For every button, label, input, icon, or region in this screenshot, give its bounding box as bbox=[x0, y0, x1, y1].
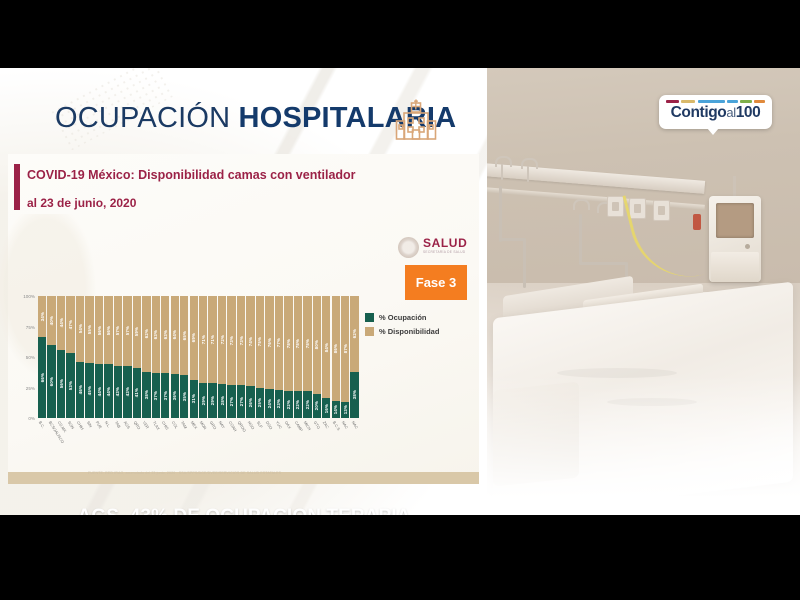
chart-bars: 34%66%40%60%44%56%47%53%54%46%55%45%56%4… bbox=[38, 296, 359, 418]
bar-label-disponibilidad: 56% bbox=[106, 326, 111, 335]
bar-segment-disponibilidad: 63% bbox=[152, 296, 160, 373]
bar-label-ocupacion: 43% bbox=[125, 387, 130, 396]
x-axis-tick: PUE bbox=[95, 420, 103, 448]
x-axis-label: PUE bbox=[95, 420, 103, 429]
chart-bar: 78%22% bbox=[294, 296, 302, 418]
presentation-slide: OCUPACIÓN HOSPITALARIA bbox=[0, 68, 487, 515]
logo-speech-tail bbox=[707, 128, 719, 135]
chart-bar: 75%25% bbox=[256, 296, 264, 418]
bar-label-disponibilidad: 78% bbox=[295, 339, 300, 348]
bar-segment-ocupacion: 31% bbox=[190, 380, 198, 418]
bar-label-disponibilidad: 44% bbox=[59, 318, 64, 327]
x-axis-tick: MEX bbox=[190, 420, 198, 448]
x-axis-tick: MOR bbox=[199, 420, 207, 448]
bar-label-disponibilidad: 76% bbox=[267, 338, 272, 347]
x-axis-tick: NAC bbox=[341, 420, 349, 448]
hospital-building-icon bbox=[395, 97, 437, 143]
x-axis-tick: B.C. bbox=[38, 420, 46, 448]
caption-line-1: AGS. 43% DE OCUPACION TERAPIA bbox=[29, 506, 459, 515]
x-axis-label: CHIS bbox=[161, 420, 170, 431]
x-axis-label: ZAC bbox=[322, 420, 330, 429]
bar-segment-disponibilidad: 47% bbox=[66, 296, 74, 353]
bar-label-disponibilidad: 80% bbox=[314, 340, 319, 349]
x-axis-tick: COAH bbox=[227, 420, 235, 448]
x-axis-label: TAM bbox=[180, 420, 188, 429]
bar-segment-disponibilidad: 71% bbox=[208, 296, 216, 383]
bar-segment-ocupacion: 44% bbox=[104, 364, 112, 418]
bar-segment-ocupacion: 41% bbox=[133, 368, 141, 418]
chart-bar: 57%43% bbox=[123, 296, 131, 418]
bar-label-disponibilidad: 74% bbox=[248, 337, 253, 346]
bar-label-disponibilidad: 69% bbox=[191, 333, 196, 342]
bar-label-ocupacion: 35% bbox=[182, 392, 187, 401]
bar-label-disponibilidad: 34% bbox=[40, 312, 45, 321]
y-axis-tick: 25% bbox=[13, 386, 35, 391]
video-content-band: OCUPACIÓN HOSPITALARIA bbox=[0, 68, 800, 515]
bar-segment-ocupacion: 26% bbox=[246, 386, 254, 418]
chart-bar: 62%38% bbox=[350, 296, 358, 418]
ventilator-base bbox=[711, 252, 759, 282]
logo-strip-dash bbox=[740, 100, 752, 103]
bar-label-disponibilidad: 59% bbox=[134, 327, 139, 336]
bar-label-ocupacion: 29% bbox=[210, 396, 215, 405]
chart-bar: 77%23% bbox=[275, 296, 283, 418]
x-axis-label: GRO bbox=[208, 420, 217, 430]
bar-segment-disponibilidad: 57% bbox=[123, 296, 131, 366]
bar-segment-ocupacion: 44% bbox=[95, 364, 103, 418]
x-axis-tick: YUC bbox=[275, 420, 283, 448]
bar-segment-ocupacion: 37% bbox=[152, 373, 160, 418]
x-axis-tick: AGS bbox=[123, 420, 131, 448]
bar-segment-ocupacion: 66% bbox=[38, 337, 46, 418]
bar-segment-ocupacion: 22% bbox=[303, 391, 311, 418]
bar-label-ocupacion: 37% bbox=[163, 391, 168, 400]
salud-logo-subtitle: SECRETARÍA DE SALUD bbox=[423, 250, 465, 254]
bar-label-ocupacion: 23% bbox=[276, 399, 281, 408]
x-axis-label: B.C. bbox=[38, 420, 46, 429]
bar-segment-ocupacion: 38% bbox=[142, 372, 150, 418]
bar-segment-disponibilidad: 56% bbox=[104, 296, 112, 364]
x-axis-tick: CD.MX bbox=[57, 420, 65, 448]
bar-segment-disponibilidad: 78% bbox=[294, 296, 302, 391]
photo-bottom-fade bbox=[487, 375, 800, 515]
chart-bar: 74%26% bbox=[246, 296, 254, 418]
bar-segment-ocupacion: 27% bbox=[237, 385, 245, 418]
x-axis-label: TAB bbox=[114, 420, 122, 429]
bar-label-ocupacion: 13% bbox=[343, 405, 348, 414]
x-axis-tick: OAX bbox=[284, 420, 292, 448]
chart-bar: 76%24% bbox=[265, 296, 273, 418]
x-axis-tick: NAY bbox=[218, 420, 226, 448]
bar-label-disponibilidad: 57% bbox=[115, 326, 120, 335]
chart-bar: 84%16% bbox=[322, 296, 330, 418]
bar-label-ocupacion: 27% bbox=[229, 397, 234, 406]
slide-header: OCUPACIÓN HOSPITALARIA bbox=[0, 94, 487, 152]
bar-label-disponibilidad: 57% bbox=[125, 326, 130, 335]
legend-swatch-icon bbox=[365, 313, 374, 322]
bar-label-ocupacion: 20% bbox=[314, 401, 319, 410]
x-axis-tick: TLAX bbox=[152, 420, 160, 448]
chart-bar: 63%37% bbox=[161, 296, 169, 418]
chart-bar: 59%41% bbox=[133, 296, 141, 418]
bar-label-disponibilidad: 73% bbox=[229, 336, 234, 345]
bar-segment-ocupacion: 22% bbox=[284, 391, 292, 418]
chart-bar: 54%46% bbox=[76, 296, 84, 418]
chart-plot-area: 34%66%40%60%44%56%47%53%54%46%55%45%56%4… bbox=[38, 296, 359, 418]
bar-segment-ocupacion: 35% bbox=[180, 375, 188, 418]
x-axis-label: SIN bbox=[85, 420, 93, 428]
logo-text-num: 100 bbox=[736, 104, 761, 121]
bar-segment-ocupacion: 36% bbox=[171, 374, 179, 418]
bar-segment-disponibilidad: 69% bbox=[190, 296, 198, 380]
x-axis-label: N.L. bbox=[104, 420, 112, 429]
bar-segment-ocupacion: 29% bbox=[199, 383, 207, 418]
x-axis-tick: VER bbox=[142, 420, 150, 448]
x-axis-tick: CHIS bbox=[161, 420, 169, 448]
bar-segment-disponibilidad: 62% bbox=[350, 296, 358, 372]
bar-label-ocupacion: 53% bbox=[68, 381, 73, 390]
bar-label-disponibilidad: 78% bbox=[305, 339, 310, 348]
x-axis-tick: HGO bbox=[246, 420, 254, 448]
x-axis-label: MOR bbox=[199, 420, 208, 430]
bar-label-disponibilidad: 78% bbox=[286, 339, 291, 348]
bar-segment-disponibilidad: 72% bbox=[218, 296, 226, 384]
iv-hook-icon bbox=[573, 199, 590, 210]
x-axis-label: SLP bbox=[256, 420, 264, 429]
x-axis-tick: BCS/JALISCO bbox=[47, 420, 55, 448]
x-axis-tick: QROO bbox=[237, 420, 245, 448]
y-axis-tick: 100% bbox=[13, 294, 35, 299]
logo-strip-dash bbox=[754, 100, 765, 103]
x-axis-tick: DGO bbox=[265, 420, 273, 448]
bar-segment-ocupacion: 23% bbox=[275, 390, 283, 418]
chart-bar: 73%27% bbox=[237, 296, 245, 418]
x-axis-tick: SLP bbox=[256, 420, 264, 448]
bar-label-disponibilidad: 86% bbox=[333, 344, 338, 353]
ventilator-knob bbox=[745, 244, 750, 249]
bar-label-disponibilidad: 87% bbox=[343, 344, 348, 353]
red-valve bbox=[693, 214, 701, 230]
x-axis-label: SON bbox=[66, 420, 75, 430]
bar-segment-ocupacion: 29% bbox=[208, 383, 216, 418]
bar-label-ocupacion: 45% bbox=[87, 386, 92, 395]
x-axis-tick: GRO bbox=[208, 420, 216, 448]
chart-bar: 64%36% bbox=[171, 296, 179, 418]
bar-label-disponibilidad: 75% bbox=[257, 337, 262, 346]
x-axis-tick: CAMP bbox=[294, 420, 302, 448]
bar-segment-disponibilidad: 86% bbox=[332, 296, 340, 401]
bar-label-disponibilidad: 62% bbox=[352, 329, 357, 338]
x-axis-tick: NAC bbox=[350, 420, 358, 448]
x-axis-tick: B.C.S bbox=[332, 420, 340, 448]
bar-label-disponibilidad: 72% bbox=[220, 335, 225, 344]
bar-segment-ocupacion: 43% bbox=[123, 366, 131, 418]
bar-segment-ocupacion: 20% bbox=[313, 394, 321, 418]
bar-segment-disponibilidad: 62% bbox=[142, 296, 150, 372]
contigo-al-100-logo: Contigoal100 bbox=[659, 95, 772, 129]
bar-label-ocupacion: 41% bbox=[134, 388, 139, 397]
bar-label-ocupacion: 56% bbox=[59, 379, 64, 388]
bar-segment-disponibilidad: 71% bbox=[199, 296, 207, 383]
wall-outlet bbox=[607, 196, 624, 217]
salud-logo-name: SALUD bbox=[423, 236, 467, 250]
bar-segment-ocupacion: 60% bbox=[47, 345, 55, 418]
bar-segment-disponibilidad: 64% bbox=[171, 296, 179, 374]
bar-segment-ocupacion: 27% bbox=[227, 385, 235, 418]
x-axis-tick: N.L. bbox=[104, 420, 112, 448]
bar-segment-ocupacion: 22% bbox=[294, 391, 302, 418]
chart-legend: % Ocupación% Disponibilidad bbox=[365, 313, 439, 341]
bar-segment-disponibilidad: 80% bbox=[313, 296, 321, 394]
bar-label-ocupacion: 31% bbox=[191, 394, 196, 403]
bar-segment-ocupacion: 14% bbox=[332, 401, 340, 418]
bar-label-ocupacion: 22% bbox=[286, 400, 291, 409]
legend-label: % Ocupación bbox=[379, 313, 427, 322]
bar-label-disponibilidad: 64% bbox=[172, 330, 177, 339]
chart-subtitle: al 23 de junio, 2020 bbox=[27, 196, 136, 210]
logo-strip-dash bbox=[681, 100, 695, 103]
bar-segment-disponibilidad: 73% bbox=[237, 296, 245, 385]
x-axis-label: COL bbox=[171, 420, 179, 429]
bar-label-ocupacion: 22% bbox=[295, 400, 300, 409]
chart-bar: 80%20% bbox=[313, 296, 321, 418]
bar-label-disponibilidad: 54% bbox=[78, 324, 83, 333]
bar-label-disponibilidad: 73% bbox=[239, 336, 244, 345]
bar-segment-ocupacion: 53% bbox=[66, 353, 74, 418]
x-axis-label: VER bbox=[142, 420, 150, 429]
bar-label-ocupacion: 38% bbox=[352, 390, 357, 399]
bar-label-ocupacion: 29% bbox=[201, 396, 206, 405]
bar-label-disponibilidad: 62% bbox=[144, 329, 149, 338]
bar-segment-ocupacion: 37% bbox=[161, 373, 169, 418]
bar-segment-disponibilidad: 34% bbox=[38, 296, 46, 337]
y-axis-tick: 75% bbox=[13, 325, 35, 330]
x-axis-tick: SON bbox=[66, 420, 74, 448]
legend-swatch-icon bbox=[365, 327, 374, 336]
chart-source-note: FUENTE: RED IRAG, acumulado del 23 junio… bbox=[88, 471, 281, 475]
bar-label-ocupacion: 14% bbox=[333, 405, 338, 414]
chart-bar: 56%44% bbox=[95, 296, 103, 418]
bar-label-ocupacion: 27% bbox=[239, 397, 244, 406]
bar-label-ocupacion: 16% bbox=[324, 404, 329, 413]
bar-segment-ocupacion: 56% bbox=[57, 350, 65, 418]
bar-label-ocupacion: 43% bbox=[115, 387, 120, 396]
bar-segment-disponibilidad: 54% bbox=[76, 296, 84, 362]
bar-label-ocupacion: 60% bbox=[49, 377, 54, 386]
fase-badge-label: Fase 3 bbox=[416, 275, 456, 290]
x-axis-label: GTO bbox=[313, 420, 322, 430]
status-badge: Fase 3 bbox=[405, 265, 467, 300]
bar-segment-ocupacion: 38% bbox=[350, 372, 358, 418]
legend-item-0: % Ocupación bbox=[365, 313, 439, 322]
x-axis-label: NAC bbox=[341, 420, 350, 430]
chart-title: COVID-19 México: Disponibilidad camas co… bbox=[27, 168, 356, 182]
bar-label-disponibilidad: 77% bbox=[276, 338, 281, 347]
logo-text: Contigoal100 bbox=[659, 104, 772, 122]
x-axis-tick: SIN bbox=[85, 420, 93, 448]
x-axis-tick: GTO bbox=[313, 420, 321, 448]
x-axis-label: TLAX bbox=[152, 420, 161, 431]
x-axis-tick: TAB bbox=[114, 420, 122, 448]
chart-bar: 63%37% bbox=[152, 296, 160, 418]
chart-bar: 55%45% bbox=[85, 296, 93, 418]
chart-bar: 65%35% bbox=[180, 296, 188, 418]
chart-bar: 72%28% bbox=[218, 296, 226, 418]
bar-segment-disponibilidad: 73% bbox=[227, 296, 235, 385]
ventilator-screen bbox=[716, 203, 754, 238]
x-axis-tick: TAM bbox=[180, 420, 188, 448]
x-axis-tick: COL bbox=[171, 420, 179, 448]
bar-segment-disponibilidad: 57% bbox=[114, 296, 122, 366]
bar-label-ocupacion: 36% bbox=[172, 391, 177, 400]
x-axis-label: AGS bbox=[123, 420, 132, 430]
bar-segment-disponibilidad: 44% bbox=[57, 296, 65, 350]
chart-bar: 57%43% bbox=[114, 296, 122, 418]
bar-label-ocupacion: 24% bbox=[267, 399, 272, 408]
logo-text-main: Contigo bbox=[671, 104, 727, 121]
eagle-seal-icon bbox=[398, 237, 419, 258]
bar-segment-disponibilidad: 76% bbox=[265, 296, 273, 389]
x-axis-label: MICH bbox=[303, 420, 313, 431]
x-axis-label: CHIH bbox=[76, 420, 85, 431]
ventilator-machine bbox=[709, 196, 761, 282]
y-axis-tick: 50% bbox=[13, 355, 35, 360]
bar-label-disponibilidad: 84% bbox=[324, 343, 329, 352]
wall-pipe bbox=[579, 214, 582, 264]
chart-bar: 40%60% bbox=[47, 296, 55, 418]
logo-strip-dash bbox=[666, 100, 679, 103]
logo-color-strip bbox=[666, 100, 765, 103]
bar-segment-disponibilidad: 63% bbox=[161, 296, 169, 373]
bar-label-ocupacion: 25% bbox=[257, 398, 262, 407]
x-axis-label: QRO bbox=[133, 420, 142, 430]
bar-segment-disponibilidad: 55% bbox=[85, 296, 93, 363]
chart-bar: 78%22% bbox=[284, 296, 292, 418]
chart-bar: 71%29% bbox=[199, 296, 207, 418]
bar-segment-disponibilidad: 74% bbox=[246, 296, 254, 386]
bar-label-ocupacion: 26% bbox=[248, 398, 253, 407]
bar-segment-ocupacion: 46% bbox=[76, 362, 84, 418]
wall-pipe bbox=[579, 262, 627, 265]
x-axis-label: MEX bbox=[189, 420, 198, 430]
chart-x-axis-labels: B.C.BCS/JALISCOCD.MXSONCHIHSINPUEN.L.TAB… bbox=[38, 420, 359, 448]
bar-segment-ocupacion: 45% bbox=[85, 363, 93, 418]
title-accent-bar bbox=[14, 164, 20, 210]
bar-label-disponibilidad: 55% bbox=[87, 325, 92, 334]
bar-label-disponibilidad: 71% bbox=[210, 335, 215, 344]
chart-bar: 87%13% bbox=[341, 296, 349, 418]
x-axis-label: HGO bbox=[246, 420, 255, 430]
bar-label-ocupacion: 66% bbox=[40, 373, 45, 382]
page-title-light: OCUPACIÓN bbox=[55, 102, 239, 134]
x-axis-label: B.C.S bbox=[331, 420, 341, 431]
wall-pipe bbox=[499, 238, 525, 241]
stacked-bar-chart: 34%66%40%60%44%56%47%53%54%46%55%45%56%4… bbox=[14, 296, 359, 448]
video-frame: OCUPACIÓN HOSPITALARIA bbox=[0, 0, 800, 600]
chart-bar: 78%22% bbox=[303, 296, 311, 418]
wall-pipe bbox=[523, 238, 526, 288]
iv-hook-stem bbox=[501, 164, 503, 180]
bar-label-disponibilidad: 47% bbox=[68, 320, 73, 329]
legend-item-1: % Disponibilidad bbox=[365, 327, 439, 336]
bar-label-disponibilidad: 63% bbox=[153, 330, 158, 339]
bar-segment-disponibilidad: 78% bbox=[303, 296, 311, 391]
chart-bar: 44%56% bbox=[57, 296, 65, 418]
logo-strip-dash bbox=[698, 100, 725, 103]
bar-segment-disponibilidad: 87% bbox=[341, 296, 349, 402]
bar-segment-disponibilidad: 65% bbox=[180, 296, 188, 375]
x-axis-tick: MICH bbox=[303, 420, 311, 448]
chart-bar: 62%38% bbox=[142, 296, 150, 418]
logo-text-sub: al bbox=[726, 105, 735, 120]
y-axis-tick: 0% bbox=[13, 416, 35, 421]
hospital-room-photo: Contigoal100 bbox=[487, 68, 800, 515]
chart-bar: 73%27% bbox=[227, 296, 235, 418]
bar-label-ocupacion: 22% bbox=[305, 400, 310, 409]
caption-text: AGS. 43% DE OCUPACION TERAPIA INTENSIVA … bbox=[29, 506, 459, 515]
bar-label-ocupacion: 28% bbox=[220, 396, 225, 405]
chart-bar: 69%31% bbox=[190, 296, 198, 418]
bar-segment-disponibilidad: 78% bbox=[284, 296, 292, 391]
bar-label-disponibilidad: 65% bbox=[182, 331, 187, 340]
bar-segment-disponibilidad: 75% bbox=[256, 296, 264, 388]
bar-segment-ocupacion: 24% bbox=[265, 389, 273, 418]
x-axis-tick: QRO bbox=[133, 420, 141, 448]
iv-hook-icon bbox=[521, 158, 538, 169]
chart-bar: 56%44% bbox=[104, 296, 112, 418]
x-axis-label: DGO bbox=[265, 420, 274, 430]
logo-strip-dash bbox=[727, 100, 738, 103]
iv-hook-icon bbox=[495, 156, 512, 167]
bar-segment-ocupacion: 25% bbox=[256, 388, 264, 419]
bar-segment-ocupacion: 16% bbox=[322, 398, 330, 418]
bar-segment-disponibilidad: 40% bbox=[47, 296, 55, 345]
bar-label-disponibilidad: 40% bbox=[49, 316, 54, 325]
bar-segment-ocupacion: 28% bbox=[218, 384, 226, 418]
chart-bar: 86%14% bbox=[332, 296, 340, 418]
x-axis-tick: CHIH bbox=[76, 420, 84, 448]
iv-hook-stem bbox=[527, 166, 529, 182]
bar-segment-disponibilidad: 84% bbox=[322, 296, 330, 398]
bar-segment-ocupacion: 43% bbox=[114, 366, 122, 418]
bar-label-ocupacion: 44% bbox=[106, 387, 111, 396]
bar-label-ocupacion: 37% bbox=[153, 391, 158, 400]
x-axis-label: NAY bbox=[218, 420, 226, 429]
chart-bar: 34%66% bbox=[38, 296, 46, 418]
bar-label-ocupacion: 46% bbox=[78, 385, 83, 394]
x-axis-tick: ZAC bbox=[322, 420, 330, 448]
chart-bar: 71%29% bbox=[208, 296, 216, 418]
chart-bar: 47%53% bbox=[66, 296, 74, 418]
x-axis-label: OAX bbox=[284, 420, 293, 430]
bar-label-disponibilidad: 56% bbox=[97, 326, 102, 335]
bar-segment-disponibilidad: 59% bbox=[133, 296, 141, 368]
salud-logo: SALUD SECRETARÍA DE SALUD bbox=[398, 236, 474, 260]
legend-label: % Disponibilidad bbox=[379, 327, 439, 336]
wall-pipe bbox=[499, 186, 502, 242]
bar-segment-disponibilidad: 56% bbox=[95, 296, 103, 364]
bar-label-disponibilidad: 71% bbox=[201, 335, 206, 344]
bar-segment-disponibilidad: 77% bbox=[275, 296, 283, 390]
x-axis-label: YUC bbox=[275, 420, 284, 430]
x-axis-label: NAC bbox=[350, 420, 359, 430]
bar-label-ocupacion: 44% bbox=[97, 387, 102, 396]
bar-label-disponibilidad: 63% bbox=[163, 330, 168, 339]
bar-label-ocupacion: 38% bbox=[144, 390, 149, 399]
bar-segment-ocupacion: 13% bbox=[341, 402, 349, 418]
